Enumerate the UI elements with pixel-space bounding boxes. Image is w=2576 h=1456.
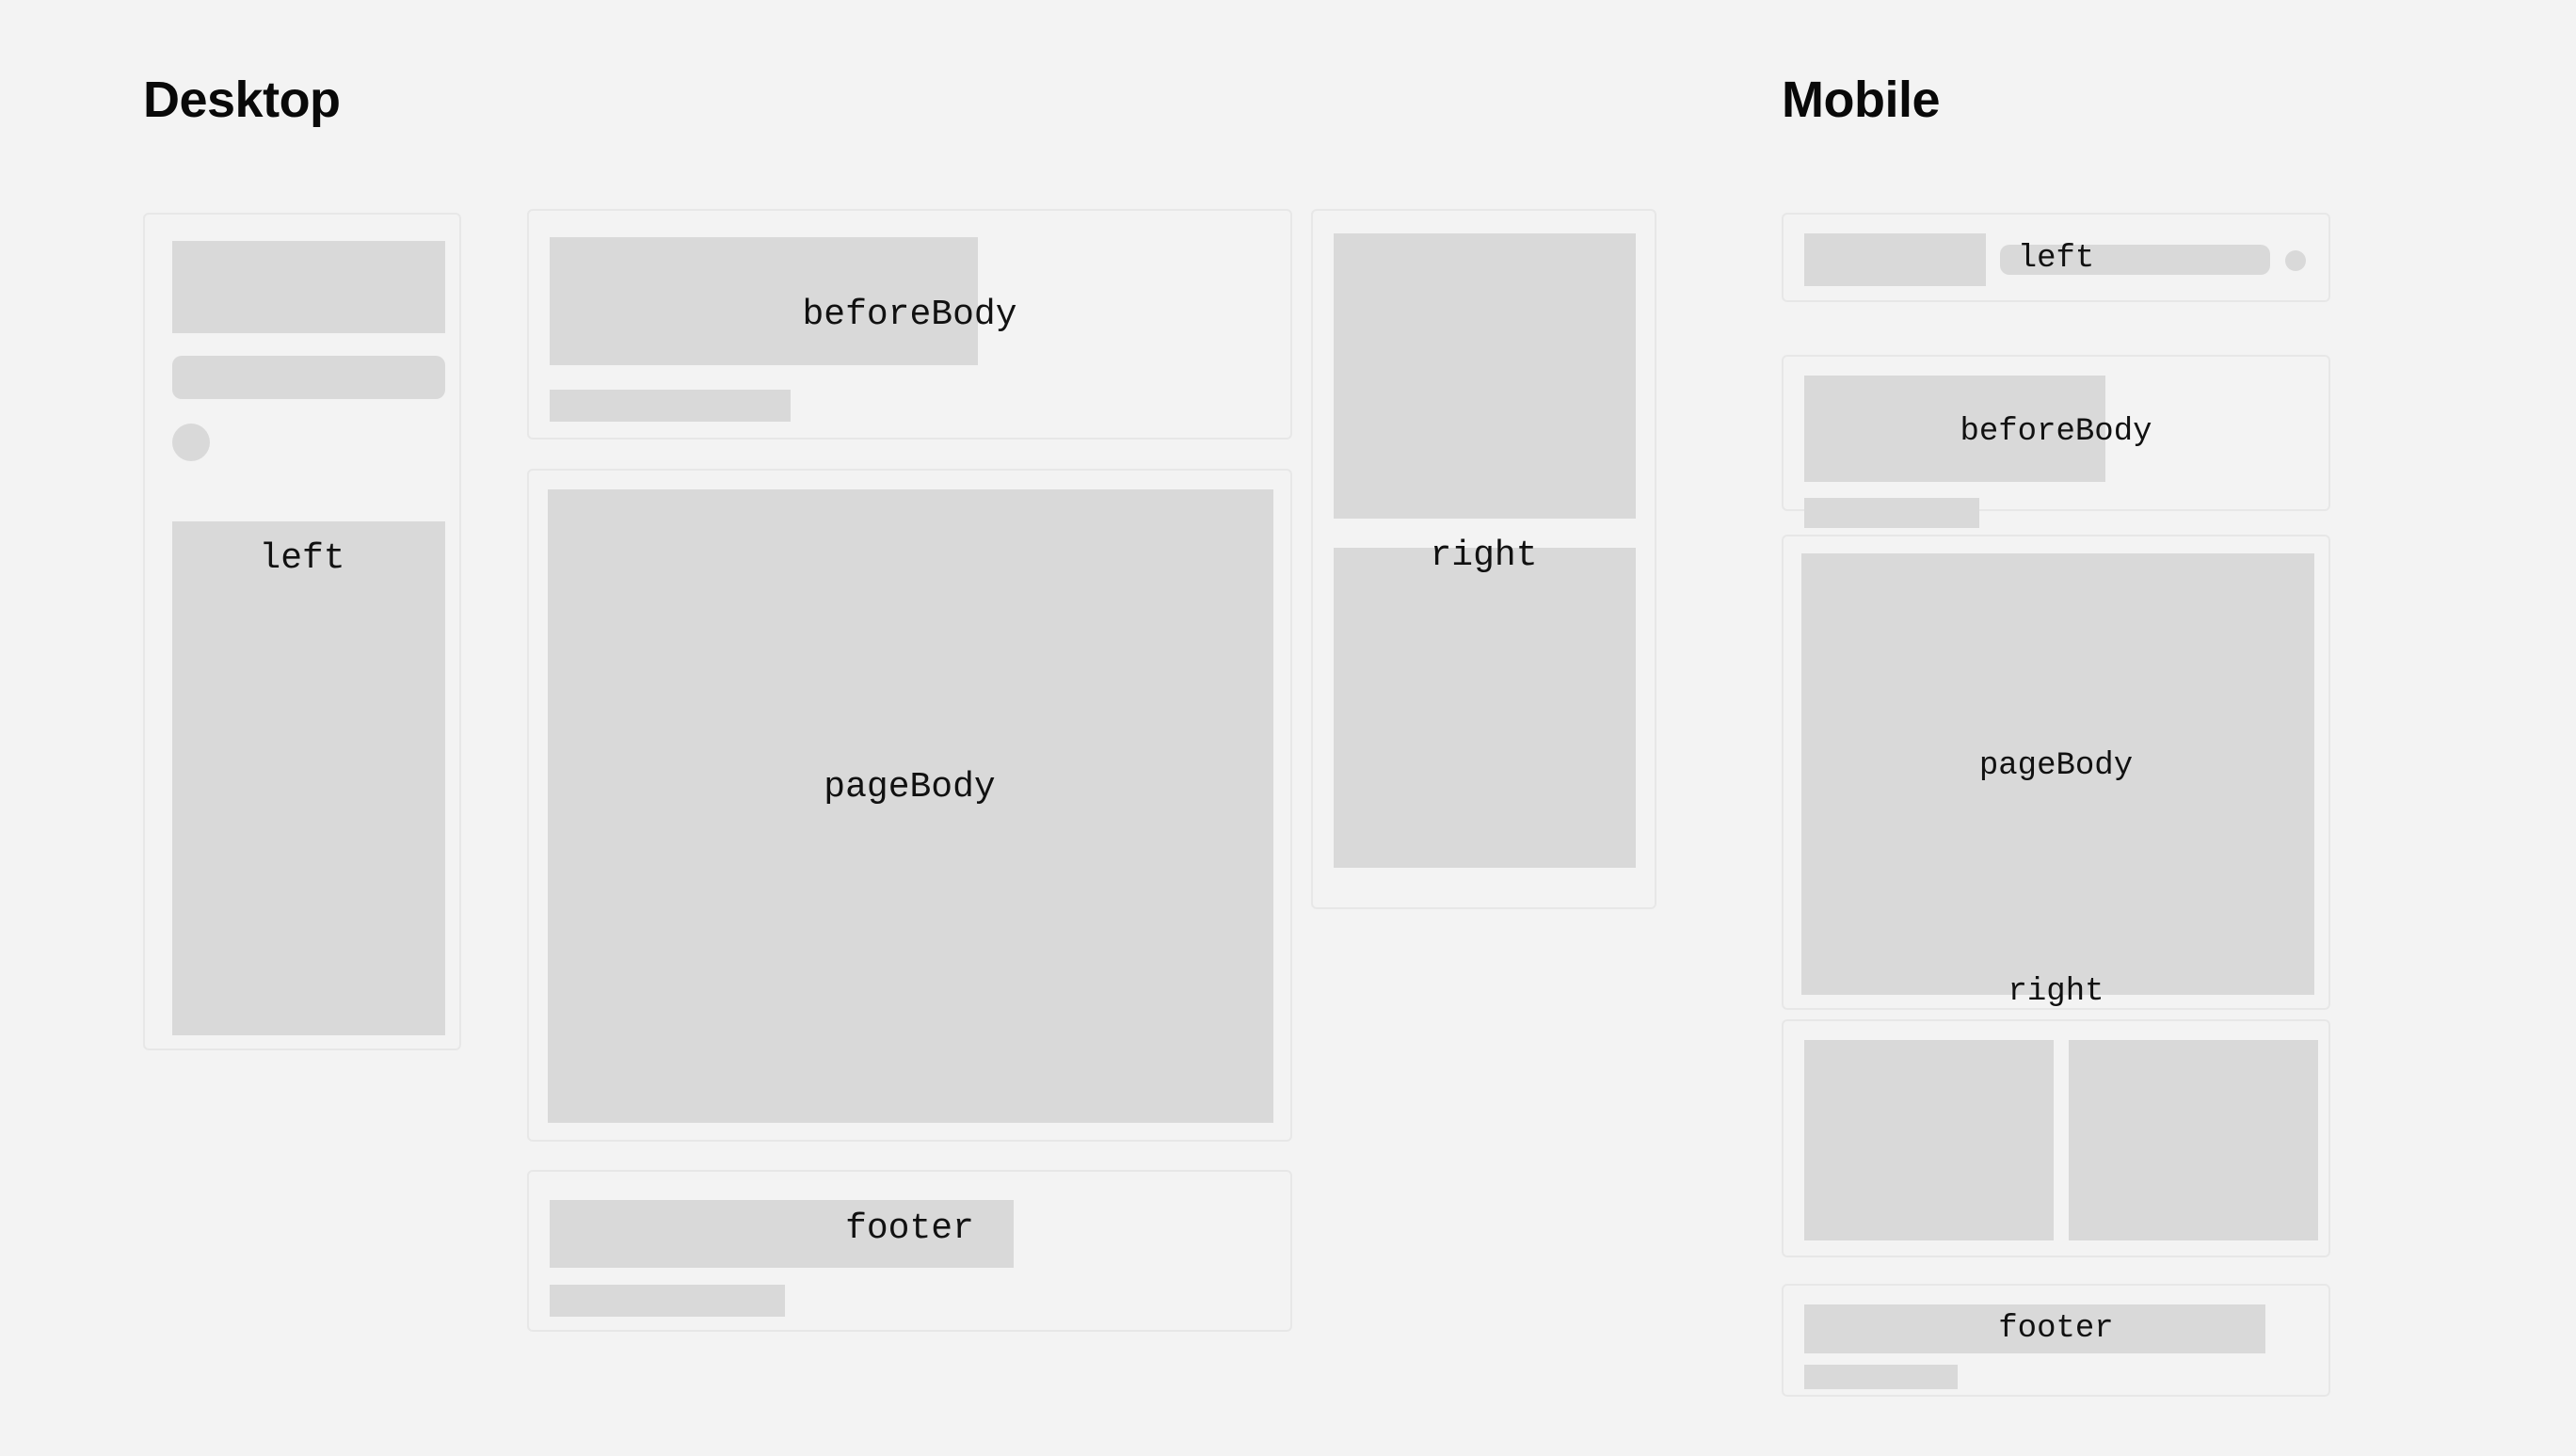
placeholder-block	[1334, 233, 1636, 519]
placeholder-block	[550, 237, 978, 365]
placeholder-block	[172, 521, 445, 1035]
desktop-page-body-region-card[interactable]	[527, 469, 1292, 1142]
desktop-column-title: Desktop	[143, 74, 341, 125]
mobile-footer-region-card[interactable]	[1782, 1284, 2330, 1397]
placeholder-block	[1804, 1304, 2265, 1353]
placeholder-bar	[1804, 1365, 1958, 1389]
placeholder-bar	[550, 1285, 785, 1317]
placeholder-block	[1801, 553, 2314, 995]
layout-preview-stage: Desktop left beforeBody pageBody right f…	[0, 0, 2576, 1456]
mobile-left-region-card[interactable]	[1782, 213, 2330, 302]
placeholder-block	[1804, 376, 2105, 482]
placeholder-avatar-circle	[172, 424, 210, 461]
placeholder-bar	[172, 356, 445, 399]
placeholder-block	[1804, 233, 1986, 286]
mobile-column-title: Mobile	[1782, 74, 1940, 125]
mobile-before-body-region-card[interactable]	[1782, 355, 2330, 511]
placeholder-bar	[550, 390, 791, 422]
placeholder-block	[548, 489, 1273, 1123]
placeholder-block	[172, 241, 445, 333]
desktop-footer-region-card[interactable]	[527, 1170, 1292, 1332]
mobile-page-body-region-card[interactable]	[1782, 535, 2330, 1010]
placeholder-bar	[1804, 498, 1979, 528]
placeholder-block	[2069, 1040, 2318, 1240]
placeholder-block	[1804, 1040, 2054, 1240]
placeholder-bar	[2000, 245, 2270, 275]
mobile-right-region-card[interactable]	[1782, 1019, 2330, 1257]
desktop-left-region-card[interactable]	[143, 213, 461, 1050]
desktop-right-region-card[interactable]	[1311, 209, 1656, 909]
desktop-before-body-region-card[interactable]	[527, 209, 1292, 440]
placeholder-block	[550, 1200, 1014, 1268]
placeholder-block	[1334, 548, 1636, 868]
placeholder-avatar-circle	[2285, 250, 2306, 271]
